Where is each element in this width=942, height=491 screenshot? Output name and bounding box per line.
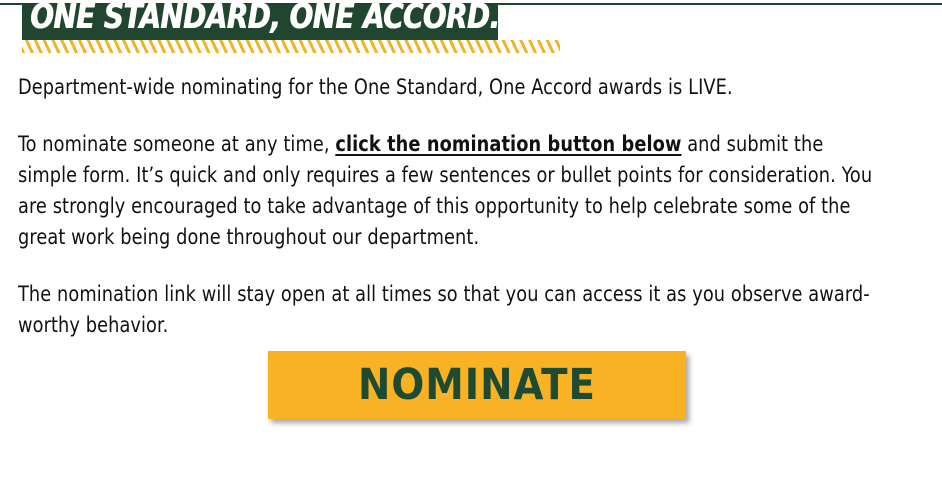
banner-title: ONE STANDARD, ONE ACCORD. xyxy=(30,0,444,39)
intro-paragraph: Department-wide nominating for the One S… xyxy=(18,72,875,103)
email-announcement-page: ONE STANDARD, ONE ACCORD. Department-wid… xyxy=(0,0,942,491)
nominate-button[interactable]: NOMINATE xyxy=(268,351,686,419)
nomination-link-emphasis[interactable]: click the nomination button below xyxy=(335,132,681,156)
availability-paragraph: The nomination link will stay open at al… xyxy=(18,279,875,341)
instructions-text-before: To nominate someone at any time, xyxy=(18,132,335,156)
instructions-paragraph: To nominate someone at any time, click t… xyxy=(18,129,875,253)
banner-stripe-pattern xyxy=(22,40,560,53)
nominate-button-container: NOMINATE xyxy=(268,351,686,419)
body-content: Department-wide nominating for the One S… xyxy=(18,72,930,341)
